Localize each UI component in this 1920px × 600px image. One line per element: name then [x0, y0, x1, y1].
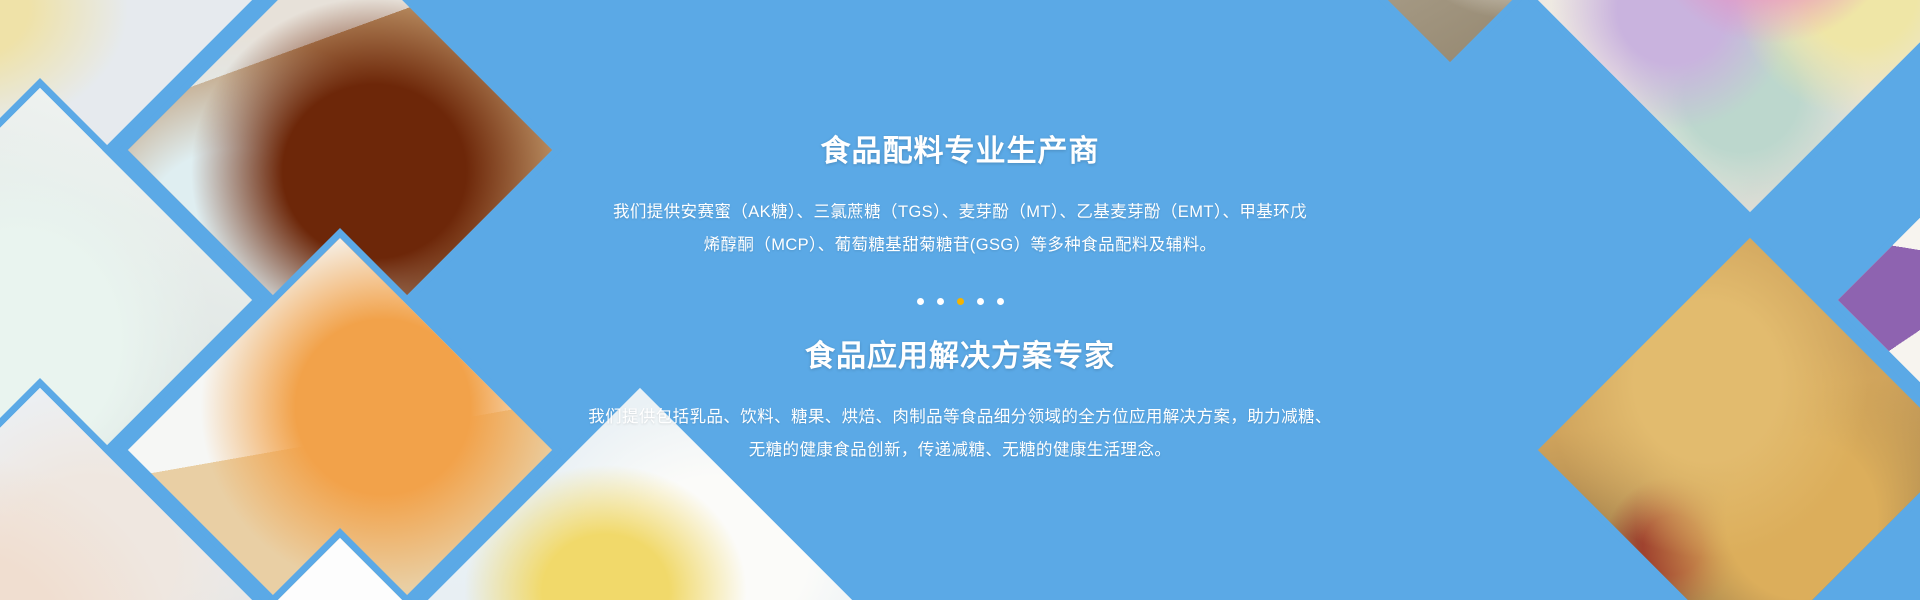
divider-dot-1 — [917, 298, 924, 305]
producer-body-line-2: 烯醇酮（MCP）、葡萄糖基甜菊糖苷(GSG）等多种食品配料及辅料。 — [704, 236, 1217, 254]
hero-banner: 食品配料专业生产商 我们提供安赛蜜（AK糖）、三氯蔗糖（TGS）、麦芽酚（MT）… — [0, 0, 1920, 600]
producer-body: 我们提供安赛蜜（AK糖）、三氯蔗糖（TGS）、麦芽酚（MT）、乙基麦芽酚（EMT… — [510, 196, 1410, 262]
divider-dot-accent — [957, 298, 964, 305]
solutions-body-line-2: 无糖的健康食品创新，传递减糖、无糖的健康生活理念。 — [749, 441, 1172, 459]
section-producer: 食品配料专业生产商 我们提供安赛蜜（AK糖）、三氯蔗糖（TGS）、麦芽酚（MT）… — [510, 134, 1410, 262]
dot-divider — [917, 298, 1004, 305]
mosaic-tile-macarons-bowl — [1538, 0, 1920, 212]
section-solutions: 食品应用解决方案专家 我们提供包括乳品、饮料、糖果、烘焙、肉制品等食品细分领域的… — [510, 339, 1410, 467]
divider-dot-4 — [977, 298, 984, 305]
solutions-body-line-1: 我们提供包括乳品、饮料、糖果、烘焙、肉制品等食品细分领域的全方位应用解决方案，助… — [588, 408, 1332, 426]
solutions-headline: 食品应用解决方案专家 — [510, 339, 1410, 375]
divider-dot-5 — [997, 298, 1004, 305]
banner-content: 食品配料专业生产商 我们提供安赛蜜（AK糖）、三氯蔗糖（TGS）、麦芽酚（MT）… — [510, 0, 1410, 600]
producer-body-line-1: 我们提供安赛蜜（AK糖）、三氯蔗糖（TGS）、麦芽酚（MT）、乙基麦芽酚（EMT… — [613, 203, 1307, 221]
solutions-body: 我们提供包括乳品、饮料、糖果、烘焙、肉制品等食品细分领域的全方位应用解决方案，助… — [510, 401, 1410, 467]
divider-dot-2 — [937, 298, 944, 305]
macarons-bowl-image — [1538, 0, 1920, 212]
producer-headline: 食品配料专业生产商 — [510, 134, 1410, 170]
